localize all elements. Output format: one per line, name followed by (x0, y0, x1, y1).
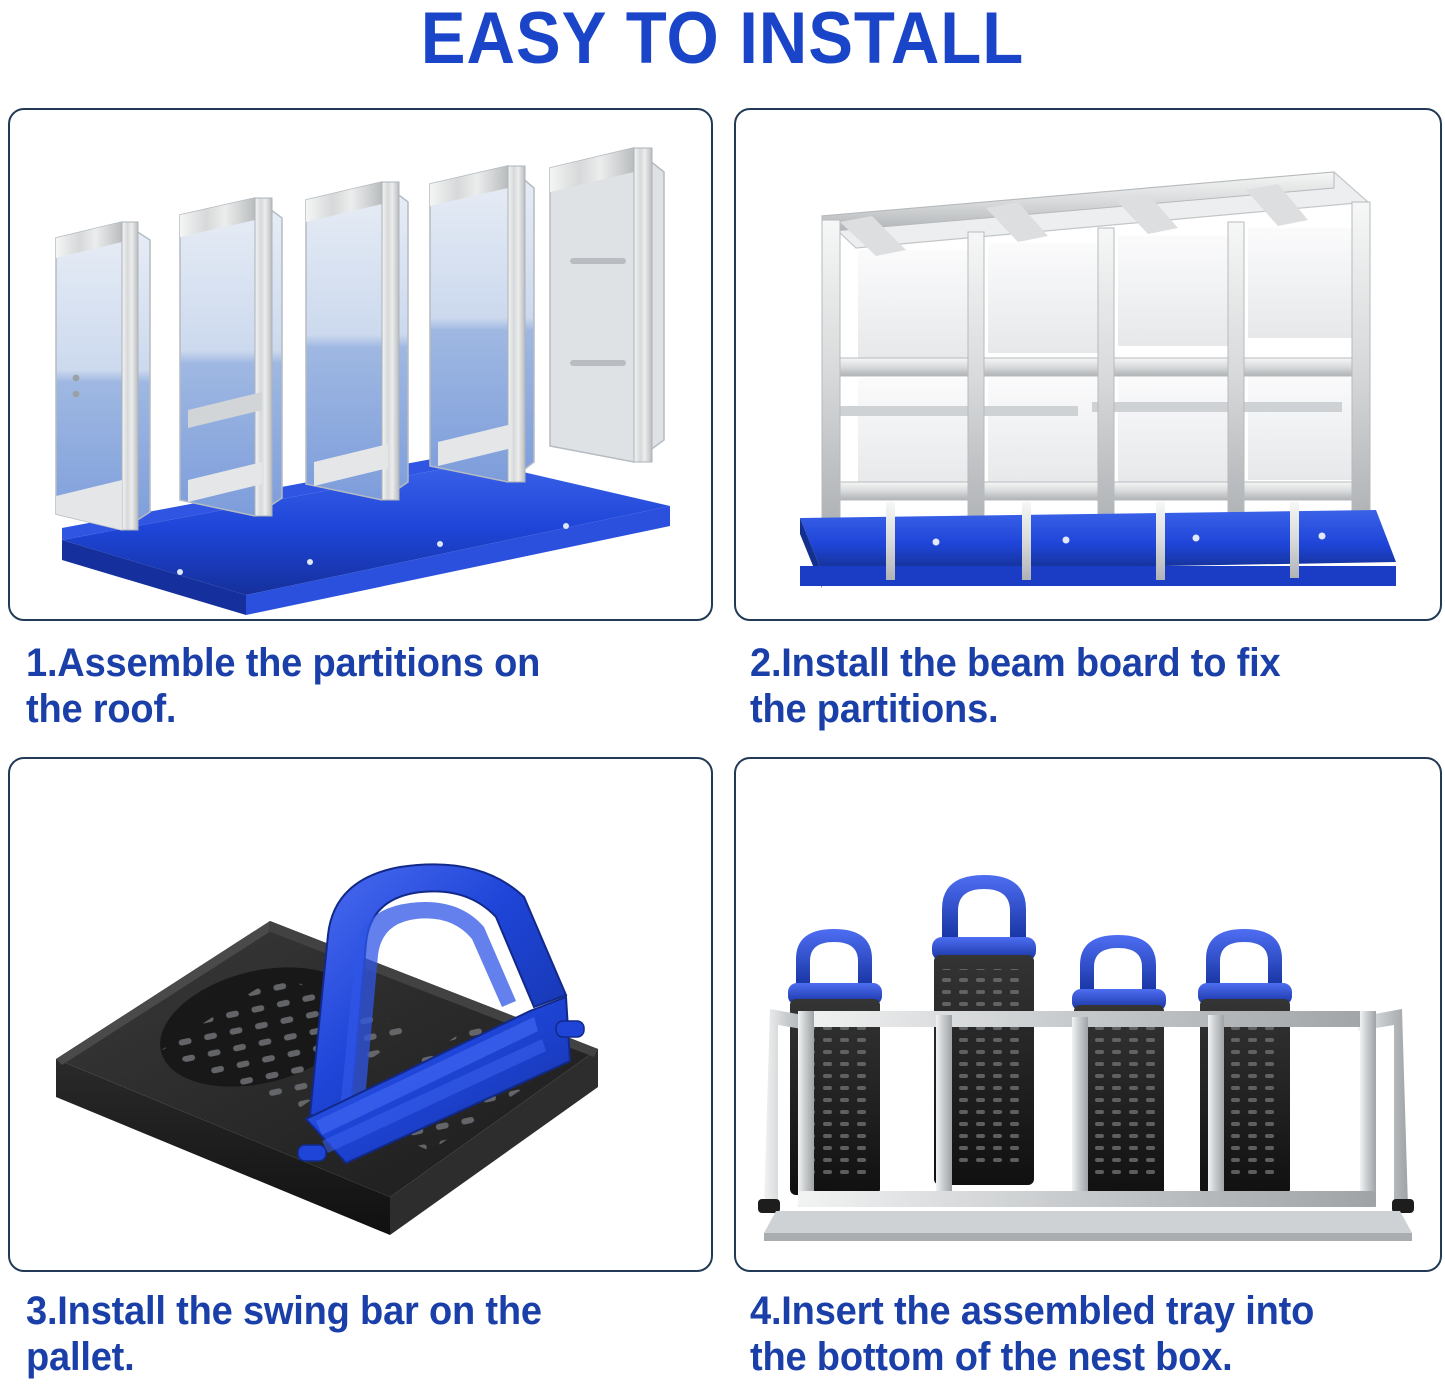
step-1-caption: 1.Assemble the partitions on the roof. (26, 640, 653, 733)
partition-panel (550, 148, 664, 462)
partition-panel-group (56, 148, 664, 530)
partition-panel (430, 166, 534, 482)
step-2-caption: 2.Install the beam board to fix the part… (750, 640, 1387, 733)
beam-board-frame-illustration (736, 110, 1440, 619)
partitions-on-tray-illustration (10, 110, 711, 619)
page-title: EASY TO INSTALL (58, 0, 1387, 82)
infographic-page: EASY TO INSTALL (0, 0, 1445, 1387)
partition-panel (180, 198, 282, 516)
trays-in-nest-box-illustration (736, 759, 1440, 1270)
step-2-svg (736, 110, 1436, 615)
step-4-image-panel (734, 757, 1442, 1272)
step-1-svg (10, 110, 707, 615)
step-2-image-panel (734, 108, 1442, 621)
swing-bar-on-pallet-illustration (10, 759, 711, 1270)
partition-panel (306, 182, 408, 500)
step-3-image-panel (8, 757, 713, 1272)
step-3-svg (10, 759, 707, 1266)
step-1-image-panel (8, 108, 713, 621)
step-3-caption: 3.Install the swing bar on the pallet. (26, 1288, 653, 1381)
partition-panel (56, 222, 150, 530)
step-4-svg (736, 759, 1436, 1266)
step-4-caption: 4.Insert the assembled tray into the bot… (750, 1288, 1396, 1381)
